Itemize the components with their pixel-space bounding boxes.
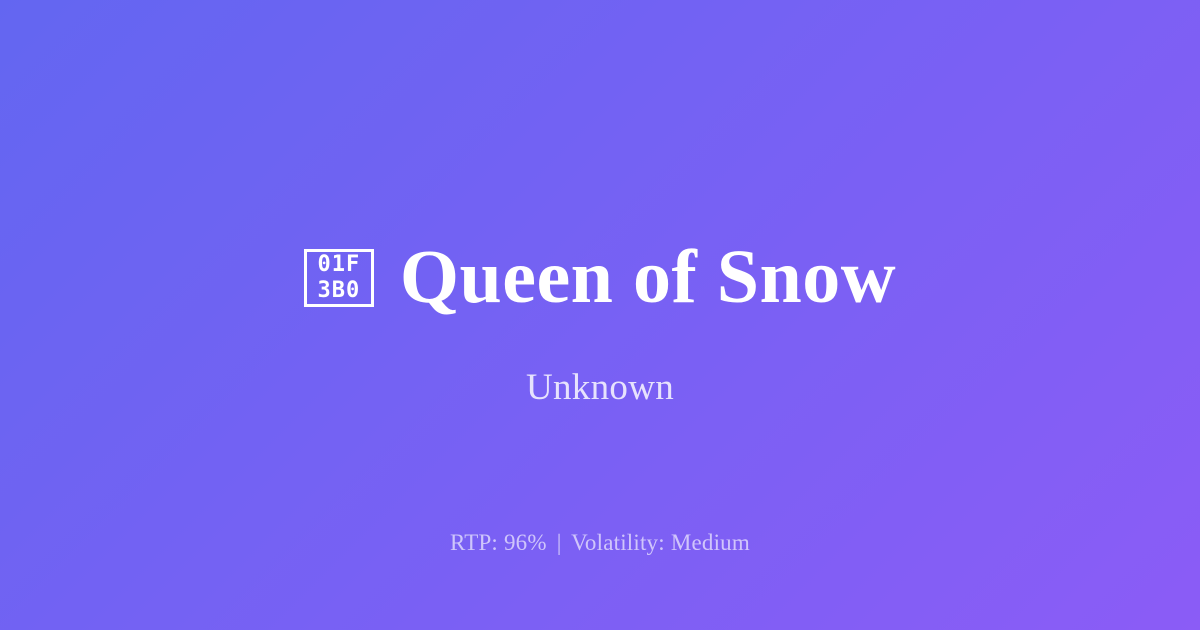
stats-separator: | [553,530,566,555]
tofu-codepoint-bottom: 3B0 [317,278,360,304]
rtp-label: RTP: [450,530,498,555]
volatility-value: Medium [671,530,750,555]
volatility-label: Volatility: [571,530,665,555]
game-share-card: 01F 3B0 Queen of Snow Unknown RTP: 96% |… [0,0,1200,630]
tofu-codepoint-top: 01F [317,252,360,278]
provider-name: Unknown [0,365,1200,411]
rtp-value: 96% [504,530,547,555]
title-row: 01F 3B0 Queen of Snow [0,232,1200,324]
game-title: Queen of Snow [400,238,896,318]
game-stats: RTP: 96% | Volatility: Medium [0,528,1200,558]
slot-machine-icon: 01F 3B0 [304,249,374,307]
